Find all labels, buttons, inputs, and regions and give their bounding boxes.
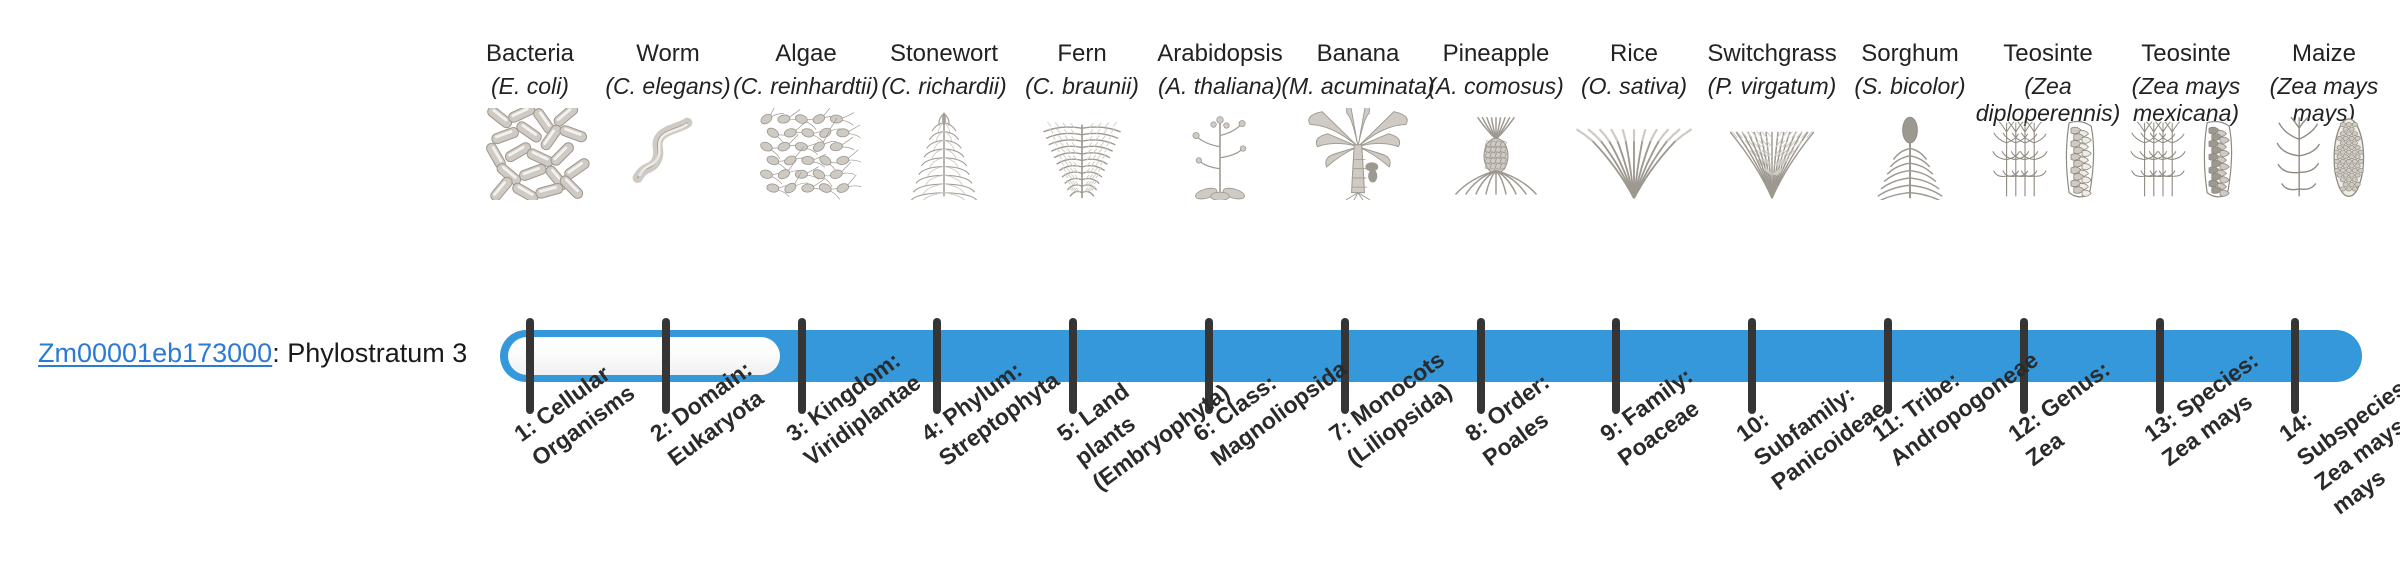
switchgrass-icon xyxy=(1707,108,1837,200)
species-scientific-name: (C. braunii) xyxy=(1005,73,1159,100)
arabidopsis-icon xyxy=(1155,108,1285,200)
phylostratum-value-text: Phylostratum 3 xyxy=(287,338,467,368)
species-column: Pineapple(A. comosus) xyxy=(1427,0,1565,310)
stonewort-icon xyxy=(879,108,1009,200)
species-column: Teosinte(Zea mays mexicana) xyxy=(2117,0,2255,310)
stratum-tick[interactable] xyxy=(2291,318,2299,414)
teosinte-mexicana-icon xyxy=(2121,108,2251,200)
species-scientific-name: (C. richardii) xyxy=(867,73,1021,100)
species-column: Worm(C. elegans) xyxy=(599,0,737,310)
maize-icon xyxy=(2259,108,2389,200)
banana-icon xyxy=(1293,108,1423,200)
species-column: Rice(O. sativa) xyxy=(1565,0,1703,310)
phylostratigraphy-figure: Zm00001eb173000: Phylostratum 3 Bacteria… xyxy=(0,0,2400,580)
stratum-tick[interactable] xyxy=(526,318,534,414)
sorghum-icon xyxy=(1845,108,1975,200)
species-scientific-name: (S. bicolor) xyxy=(1833,73,1987,100)
species-common-name: Maize xyxy=(2243,40,2400,68)
stratum-tick[interactable] xyxy=(1612,318,1620,414)
species-column: Sorghum(S. bicolor) xyxy=(1841,0,1979,310)
gene-id-link[interactable]: Zm00001eb173000 xyxy=(38,338,272,368)
species-column: Stonewort(C. richardii) xyxy=(875,0,1013,310)
stratum-tick[interactable] xyxy=(933,318,941,414)
stratum-tick[interactable] xyxy=(1477,318,1485,414)
stratum-tick[interactable] xyxy=(2156,318,2164,414)
species-column: Fern(C. braunii) xyxy=(1013,0,1151,310)
species-scientific-name: (M. acuminata) xyxy=(1281,73,1435,100)
stratum-tick[interactable] xyxy=(1069,318,1077,414)
species-column: Banana(M. acuminata) xyxy=(1289,0,1427,310)
teosinte-diploperennis-icon xyxy=(1983,108,2113,200)
species-column: Bacteria(E. coli) xyxy=(461,0,599,310)
species-columns: Bacteria(E. coli) xyxy=(461,0,2363,580)
pineapple-icon xyxy=(1431,108,1561,200)
species-column: Arabidopsis(A. thaliana) xyxy=(1151,0,1289,310)
stratum-tick[interactable] xyxy=(798,318,806,414)
bacteria-icon xyxy=(465,108,595,200)
species-column: Maize(Zea mays mays) xyxy=(2255,0,2393,310)
species-column: Algae(C. reinhardtii) xyxy=(737,0,875,310)
species-scientific-name: (E. coli) xyxy=(453,73,607,100)
species-column: Teosinte(Zea diploperennis) xyxy=(1979,0,2117,310)
algae-icon xyxy=(741,108,871,200)
species-scientific-name: (A. thaliana) xyxy=(1143,73,1297,100)
gene-label-separator: : xyxy=(272,338,287,368)
rice-icon xyxy=(1569,108,1699,200)
species-column: Switchgrass(P. virgatum) xyxy=(1703,0,1841,310)
species-scientific-name: (O. sativa) xyxy=(1557,73,1711,100)
species-scientific-name: (C. reinhardtii) xyxy=(729,73,883,100)
species-scientific-name: (C. elegans) xyxy=(591,73,745,100)
stratum-tick[interactable] xyxy=(1748,318,1756,414)
fern-icon xyxy=(1017,108,1147,200)
gene-phylostratum-label: Zm00001eb173000: Phylostratum 3 xyxy=(38,337,458,369)
species-scientific-name: (A. comosus) xyxy=(1419,73,1573,100)
worm-icon xyxy=(603,108,733,200)
species-scientific-name: (P. virgatum) xyxy=(1695,73,1849,100)
stratum-tick[interactable] xyxy=(662,318,670,414)
